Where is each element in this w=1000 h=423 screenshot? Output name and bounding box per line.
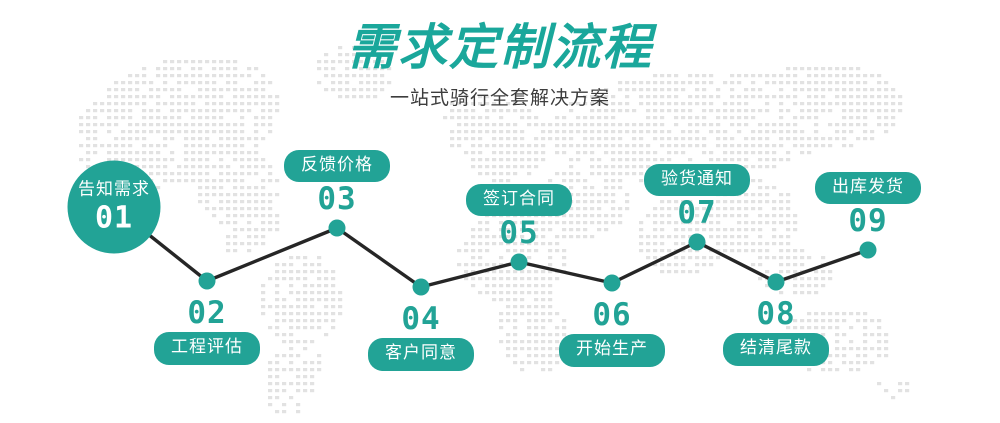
flow-step-07[interactable]: 验货通知07 [644,164,750,231]
flow-step-06-label[interactable]: 开始生产 [559,334,665,366]
flow-step-02[interactable]: 02工程评估 [154,297,260,365]
flow-step-05-label[interactable]: 签订合同 [466,184,572,216]
flow-step-04[interactable]: 04客户同意 [368,303,474,371]
flow-step-03-number: 03 [284,183,390,216]
flow-step-01[interactable]: 告知需求01 [68,161,161,254]
infographic-canvas: 需求定制流程 一站式骑行全套解决方案 告知需求0102工程评估反馈价格0304客… [0,0,1000,423]
flow-step-09-number: 09 [815,205,921,238]
flow-step-09-label[interactable]: 出库发货 [815,172,921,204]
flow-step-06-number: 06 [559,299,665,332]
flow-step-03[interactable]: 反馈价格03 [284,150,390,217]
page-subtitle: 一站式骑行全套解决方案 [0,73,1000,110]
flow-step-02-number: 02 [154,297,260,330]
flow-step-08-label[interactable]: 结清尾款 [723,333,829,365]
flow-step-04-label[interactable]: 客户同意 [368,338,474,370]
flow-step-05[interactable]: 签订合同05 [466,184,572,251]
flow-step-08[interactable]: 08结清尾款 [723,298,829,366]
flow-step-02-label[interactable]: 工程评估 [154,332,260,364]
header: 需求定制流程 一站式骑行全套解决方案 [0,0,1000,110]
flow-step-05-number: 05 [466,217,572,250]
flow-step-06[interactable]: 06开始生产 [559,299,665,367]
flow-step-01-number: 01 [95,202,133,235]
flow-step-04-number: 04 [368,303,474,336]
flow-step-01-label: 告知需求 [78,179,150,199]
flow-step-07-number: 07 [644,197,750,230]
flow-step-07-label[interactable]: 验货通知 [644,164,750,196]
flow-step-08-number: 08 [723,298,829,331]
page-title: 需求定制流程 [0,0,1000,73]
flow-step-09[interactable]: 出库发货09 [815,172,921,239]
flow-step-03-label[interactable]: 反馈价格 [284,150,390,182]
